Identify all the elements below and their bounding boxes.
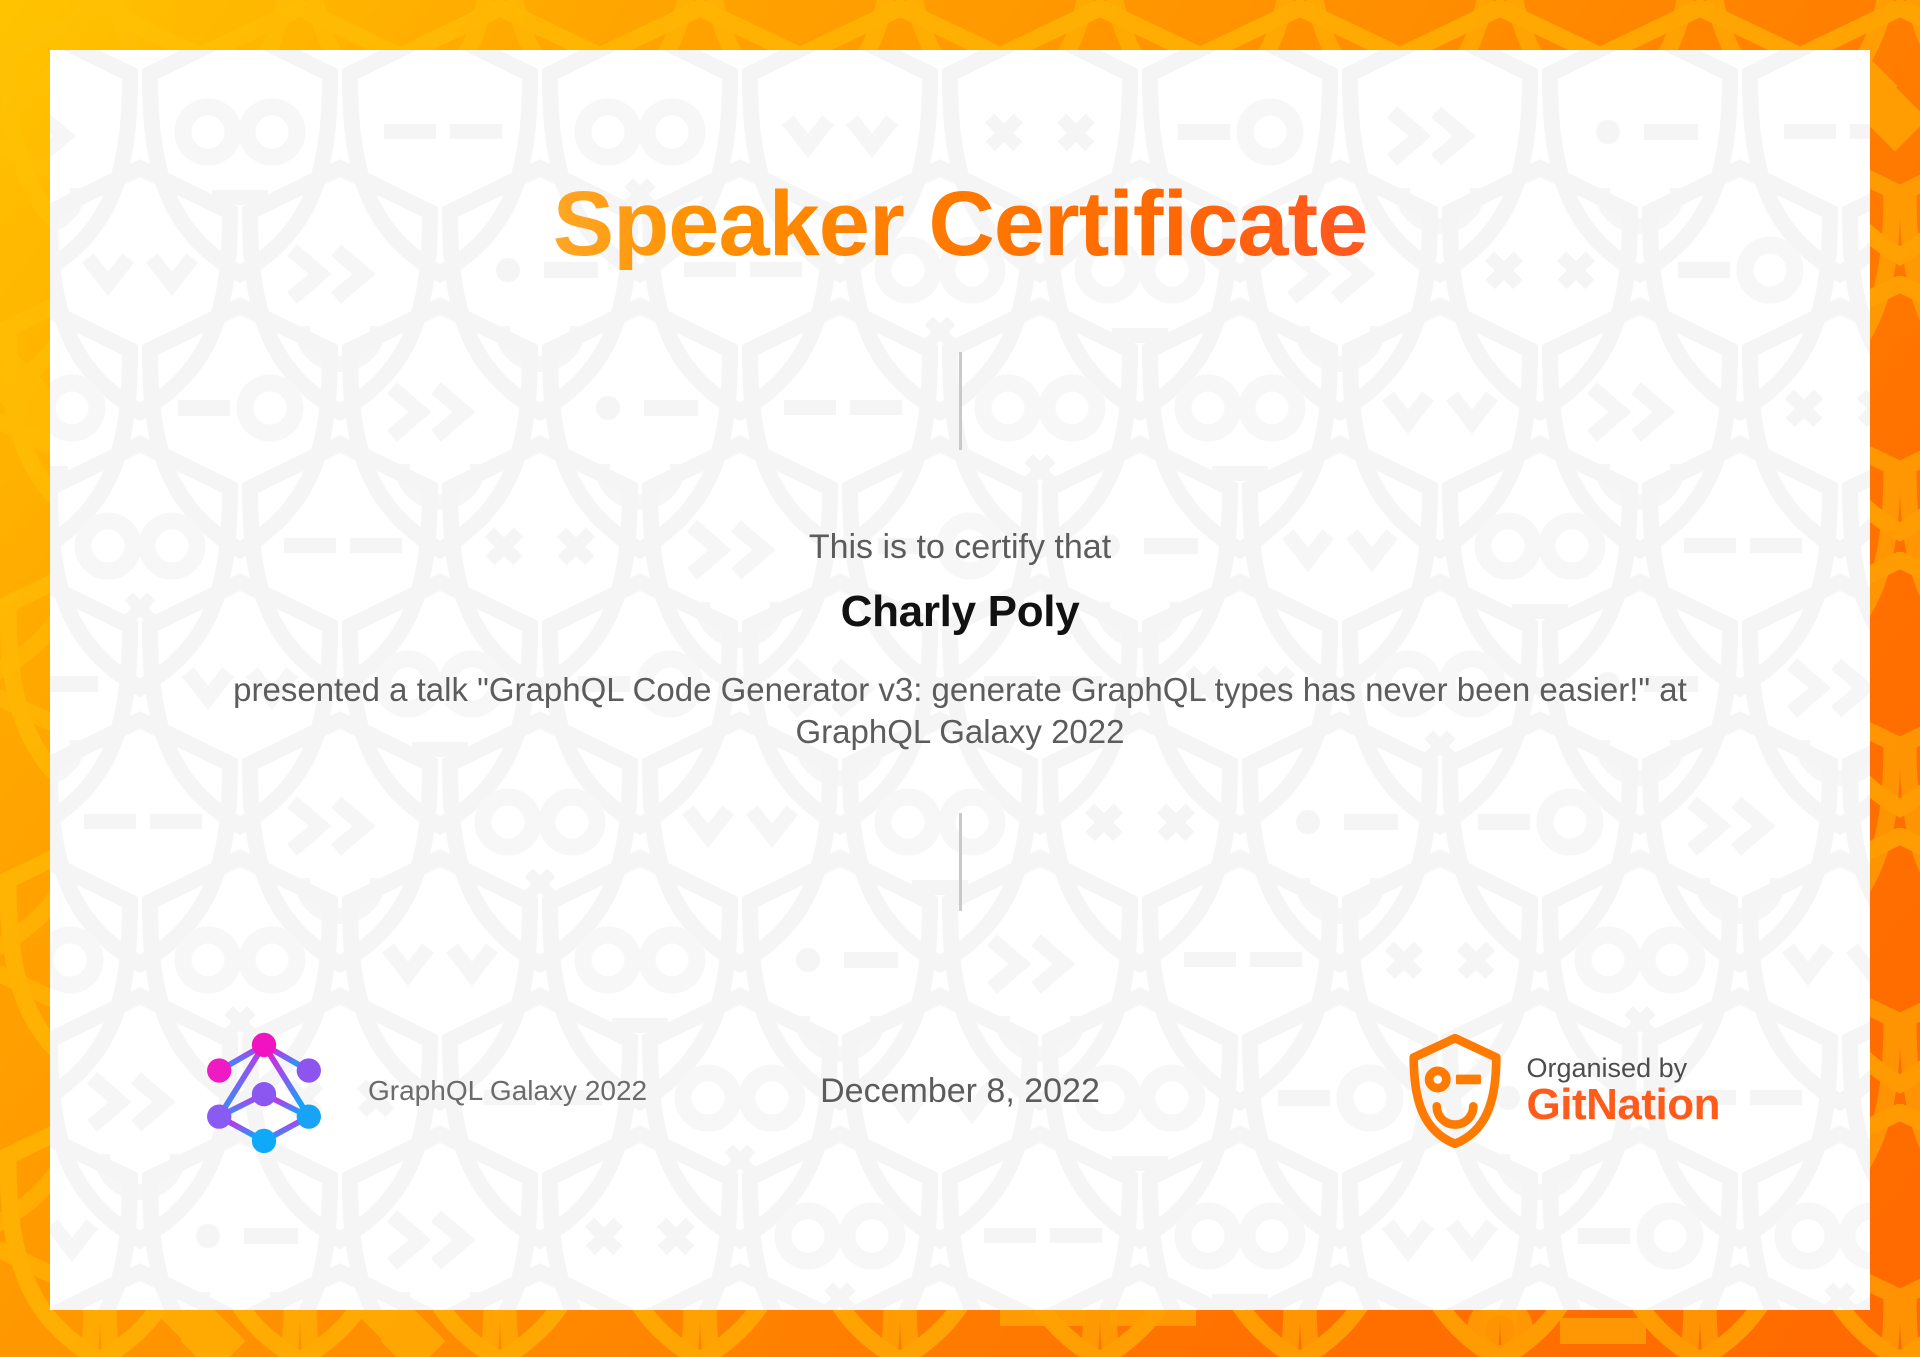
divider-top	[959, 352, 962, 450]
organiser-name: GitNation	[1527, 1082, 1720, 1128]
organised-by-label: Organised by	[1527, 1054, 1720, 1082]
issue-date: December 8, 2022	[820, 1072, 1100, 1111]
certificate-card: Speaker Certificate This is to certify t…	[50, 50, 1870, 1310]
organiser-text: Organised by GitNation	[1527, 1054, 1720, 1129]
certificate-footer: GraphQL Galaxy 2022 December 8, 2022 Org…	[50, 1026, 1870, 1156]
certify-line: This is to certify that	[809, 528, 1111, 567]
recipient-name: Charly Poly	[841, 587, 1080, 637]
talk-statement: presented a talk "GraphQL Code Generator…	[205, 669, 1715, 753]
page-title: Speaker Certificate	[553, 178, 1368, 270]
gitnation-shield-icon	[1407, 1033, 1503, 1149]
graphql-logo-icon	[200, 1027, 328, 1155]
divider-bottom	[959, 813, 962, 911]
organiser-branding: Organised by GitNation	[1407, 1033, 1720, 1149]
certificate-frame: Speaker Certificate This is to certify t…	[0, 0, 1920, 1357]
event-branding: GraphQL Galaxy 2022	[200, 1027, 647, 1155]
event-name: GraphQL Galaxy 2022	[368, 1075, 647, 1107]
